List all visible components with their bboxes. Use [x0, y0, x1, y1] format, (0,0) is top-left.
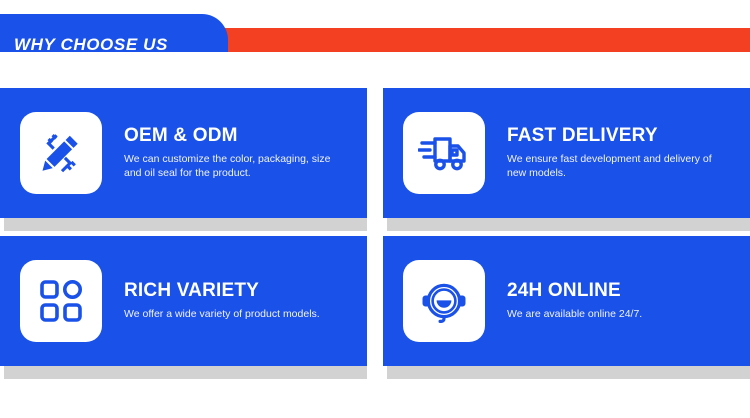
- card-title: RICH VARIETY: [124, 281, 320, 302]
- pencil-ruler-icon: [20, 112, 102, 194]
- headset-smile-icon: [403, 260, 485, 342]
- header-title-tab: WHY CHOOSE US: [0, 14, 228, 52]
- card-description: We ensure fast development and delivery …: [507, 152, 717, 180]
- card-description: We can customize the color, packaging, s…: [124, 152, 334, 180]
- card-shadow: [387, 218, 750, 231]
- grid-shapes-icon: [20, 260, 102, 342]
- card-text-block: 24H ONLINE We are available online 24/7.: [507, 281, 654, 321]
- card-description: We are available online 24/7.: [507, 307, 642, 321]
- delivery-truck-icon: [403, 112, 485, 194]
- card-title: 24H ONLINE: [507, 281, 642, 302]
- card-text-block: OEM & ODM We can customize the color, pa…: [124, 126, 346, 180]
- feature-card-rich-variety[interactable]: RICH VARIETY We offer a wide variety of …: [0, 236, 367, 379]
- card-shadow: [4, 218, 367, 231]
- feature-card-grid: OEM & ODM We can customize the color, pa…: [0, 88, 750, 384]
- card-text-block: FAST DELIVERY We ensure fast development…: [507, 126, 729, 180]
- feature-card-oem-odm[interactable]: OEM & ODM We can customize the color, pa…: [0, 88, 367, 231]
- feature-card-fast-delivery[interactable]: FAST DELIVERY We ensure fast development…: [383, 88, 750, 231]
- card-body[interactable]: FAST DELIVERY We ensure fast development…: [383, 88, 750, 218]
- card-shadow: [4, 366, 367, 379]
- card-title: OEM & ODM: [124, 126, 334, 147]
- feature-card-24h-online[interactable]: 24H ONLINE We are available online 24/7.: [383, 236, 750, 379]
- page-title: WHY CHOOSE US: [14, 35, 168, 55]
- card-description: We offer a wide variety of product model…: [124, 307, 320, 321]
- page-header: WHY CHOOSE US: [0, 0, 750, 70]
- card-title: FAST DELIVERY: [507, 126, 717, 147]
- card-body[interactable]: RICH VARIETY We offer a wide variety of …: [0, 236, 367, 366]
- card-text-block: RICH VARIETY We offer a wide variety of …: [124, 281, 332, 321]
- card-body[interactable]: OEM & ODM We can customize the color, pa…: [0, 88, 367, 218]
- header-accent-strip: [222, 28, 750, 52]
- card-body[interactable]: 24H ONLINE We are available online 24/7.: [383, 236, 750, 366]
- card-shadow: [387, 366, 750, 379]
